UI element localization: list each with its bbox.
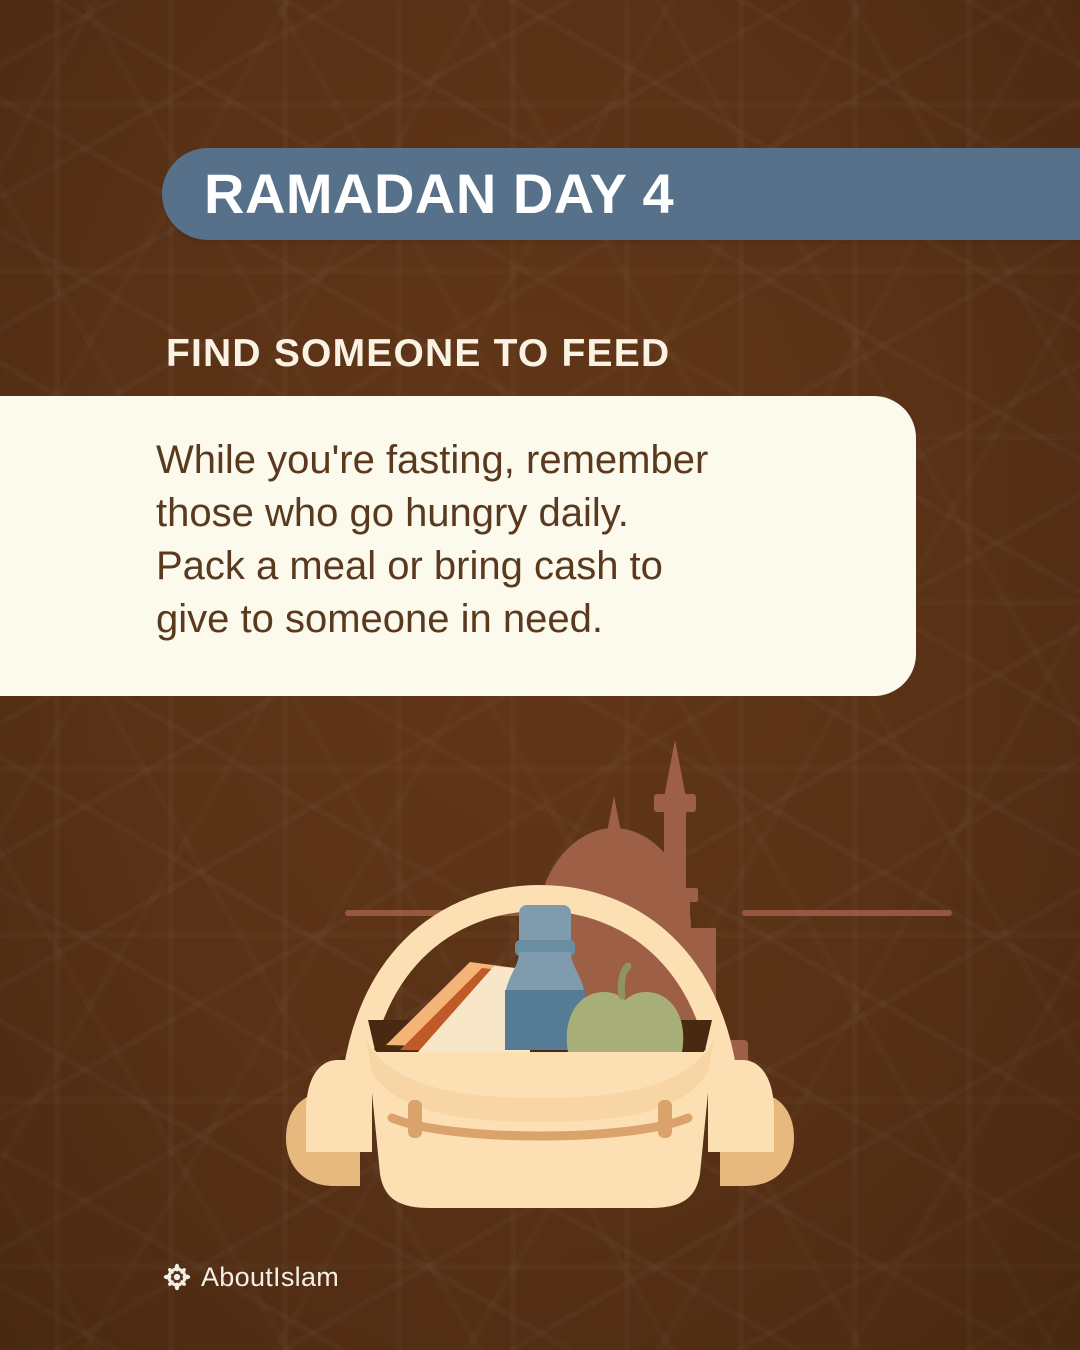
illustration-basket-scene	[0, 700, 1080, 1240]
floral-star-medallion-icon	[162, 1262, 192, 1292]
poster-canvas: RAMADAN DAY 4 FIND SOMEONE TO FEED While…	[0, 0, 1080, 1350]
brand-logo-text: AboutIslam	[201, 1264, 339, 1291]
basket-buckle-left	[408, 1100, 422, 1138]
brand-logo[interactable]: AboutIslam	[162, 1262, 339, 1292]
body-paragraph: While you're fasting, remember those who…	[156, 434, 876, 646]
basket-buckle-right	[658, 1100, 672, 1138]
body-card: While you're fasting, remember those who…	[0, 396, 916, 696]
subtitle-heading: FIND SOMEONE TO FEED	[166, 332, 670, 376]
page-title: RAMADAN DAY 4	[204, 166, 674, 222]
header-banner: RAMADAN DAY 4	[162, 148, 1080, 240]
